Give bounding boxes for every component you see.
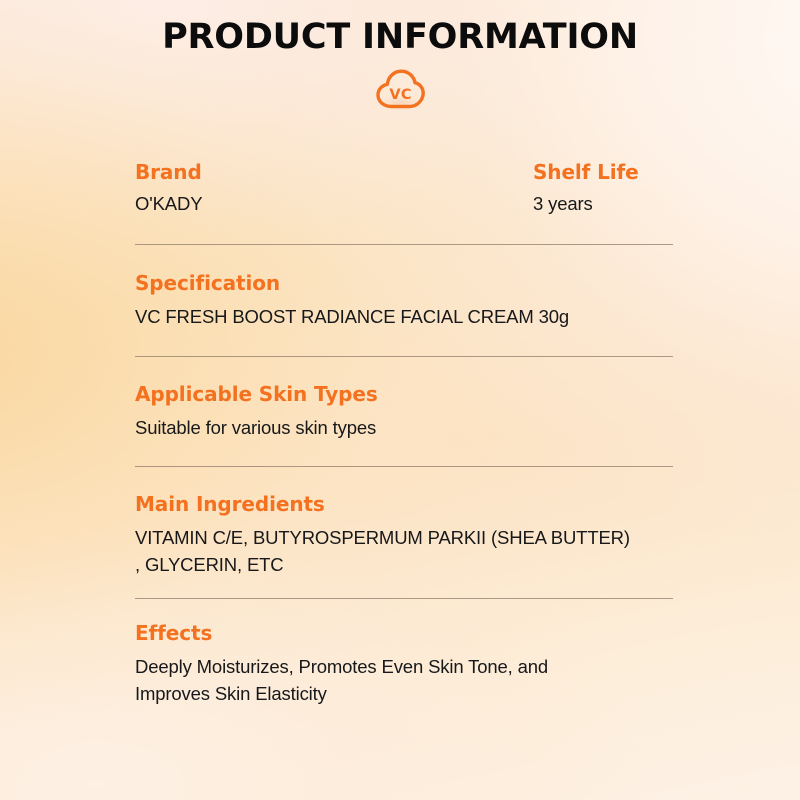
vc-logo-text: VC: [389, 87, 411, 103]
spec-field-shelf-life: Shelf Life 3 years: [533, 160, 673, 218]
spec-label-skin-types: Applicable Skin Types: [135, 382, 673, 407]
spec-label-shelf-life: Shelf Life: [533, 160, 673, 185]
spec-label-specification: Specification: [135, 271, 673, 296]
card-header: PRODUCT INFORMATION VC: [0, 0, 800, 111]
spec-row-effects: Effects Deeply Moisturizes, Promotes Eve…: [135, 599, 673, 708]
spec-row-ingredients: Main Ingredients VITAMIN C/E, BUTYROSPER…: [135, 467, 673, 598]
spec-value-skin-types: Suitable for various skin types: [135, 415, 673, 442]
spec-label-brand: Brand: [135, 160, 533, 185]
spec-label-ingredients: Main Ingredients: [135, 492, 673, 517]
spec-value-effects: Deeply Moisturizes, Promotes Even Skin T…: [135, 654, 673, 708]
logo-container: VC: [0, 67, 800, 111]
spec-value-brand: O'KADY: [135, 191, 533, 218]
page-title: PRODUCT INFORMATION: [0, 0, 800, 57]
spec-value-shelf-life: 3 years: [533, 191, 673, 218]
product-information-card: PRODUCT INFORMATION VC Brand O'KADY Shel…: [0, 0, 800, 800]
spec-value-ingredients: VITAMIN C/E, BUTYROSPERMUM PARKII (SHEA …: [135, 525, 673, 579]
spec-row-specification: Specification VC FRESH BOOST RADIANCE FA…: [135, 245, 673, 356]
specification-list: Brand O'KADY Shelf Life 3 years Specific…: [135, 160, 673, 708]
spec-row-brand: Brand O'KADY Shelf Life 3 years: [135, 160, 673, 244]
spec-label-effects: Effects: [135, 621, 673, 646]
spec-value-specification: VC FRESH BOOST RADIANCE FACIAL CREAM 30g: [135, 304, 673, 331]
vc-cloud-icon: VC: [372, 67, 428, 111]
spec-field-brand: Brand O'KADY: [135, 160, 533, 218]
spec-row-skin-types: Applicable Skin Types Suitable for vario…: [135, 357, 673, 467]
